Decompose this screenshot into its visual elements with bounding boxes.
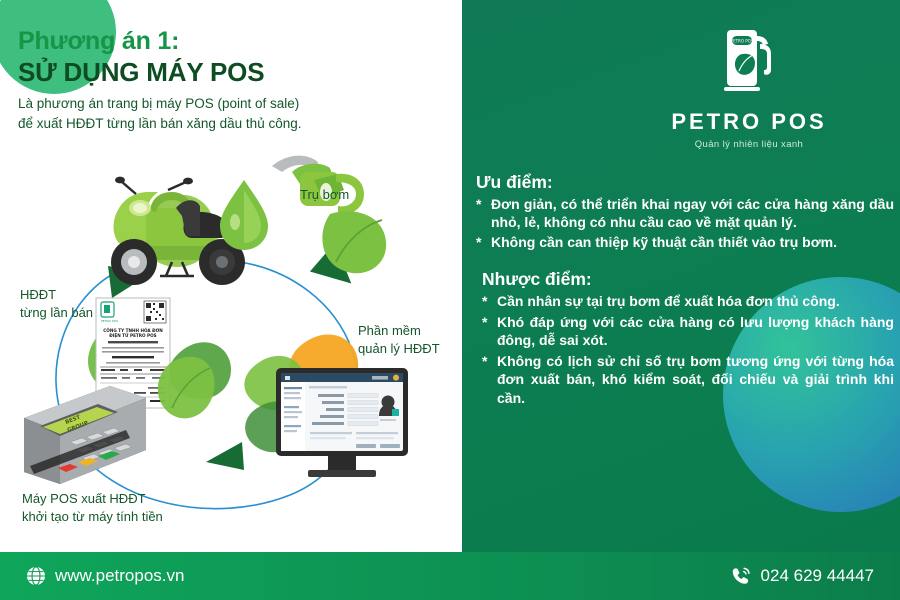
page-title-primary: Phương án 1: <box>18 28 448 56</box>
label-einvoice-per-sale: HĐĐT từng lần bán <box>20 286 93 321</box>
globe-icon <box>26 566 46 586</box>
fuel-nozzle-illustration <box>272 156 386 274</box>
svg-text:PETRO POS: PETRO POS <box>101 319 118 323</box>
advantages-heading: Ưu điểm: <box>476 172 894 193</box>
svg-text:ĐIỆN TỬ PETRO POS: ĐIỆN TỬ PETRO POS <box>109 333 156 338</box>
footer-bar: www.petropos.vn 024 629 44447 <box>0 552 900 600</box>
process-flow-diagram: PETRO POS CÔNG TY TNHH HÓA ĐƠN ĐIỆN <box>0 150 462 550</box>
pros-cons-content: Ưu điểm: * Đơn giản, có thể triển khai n… <box>476 172 894 409</box>
phone-icon <box>730 565 752 587</box>
logo-brand-name: PETRO POS <box>634 109 864 135</box>
label-invoice-software: Phần mềm quản lý HĐĐT <box>358 322 440 357</box>
footer-phone-text: 024 629 44447 <box>761 566 874 586</box>
logo-tagline: Quản lý nhiên liệu xanh <box>634 139 864 150</box>
left-content-pane: Phương án 1: SỬ DỤNG MÁY POS Là phương á… <box>0 0 462 552</box>
flow-arrow-bottom <box>206 442 244 470</box>
pos-terminal-illustration: PETRO POS CÔNG TY TNHH HÓA ĐƠN ĐIỆN <box>24 298 215 484</box>
disadvantage-text: Cần nhân sự tại trụ bơm để xuất hóa đơn … <box>497 292 894 310</box>
disadvantages-heading: Nhược điểm: <box>482 269 894 290</box>
list-item: * Cần nhân sự tại trụ bơm để xuất hóa đơ… <box>476 292 894 310</box>
disadvantage-text: Không có lịch sử chỉ số trụ bơm tương ứn… <box>497 352 894 407</box>
subtitle-line-1: Là phương án trang bị máy POS (point of … <box>18 94 448 113</box>
label-pos-terminal: Máy POS xuất HĐĐT khởi tạo từ máy tính t… <box>22 490 163 525</box>
label-pos-line-1: Máy POS xuất HĐĐT <box>22 490 163 508</box>
label-software-line-2: quản lý HĐĐT <box>358 340 440 358</box>
bullet-marker-icon: * <box>476 233 491 251</box>
monitor-illustration <box>276 368 408 477</box>
footer-website[interactable]: www.petropos.vn <box>26 566 184 586</box>
fuel-drop-icon <box>220 180 268 250</box>
title-block: Phương án 1: SỬ DỤNG MÁY POS Là phương á… <box>18 28 448 133</box>
infographic-poster: Phương án 1: SỬ DỤNG MÁY POS Là phương á… <box>0 0 900 600</box>
list-item: * Không cần can thiệp kỹ thuật cần thiết… <box>476 233 894 251</box>
list-item: * Khó đáp ứng với các cửa hàng có lưu lư… <box>476 313 894 350</box>
footer-phone[interactable]: 024 629 44447 <box>730 565 874 587</box>
label-einvoice-line-1: HĐĐT <box>20 286 93 304</box>
advantages-list: * Đơn giản, có thể triển khai ngay với c… <box>476 195 894 251</box>
disadvantage-text: Khó đáp ứng với các cửa hàng có lưu lượn… <box>497 313 894 350</box>
disadvantages-list: * Cần nhân sự tại trụ bơm để xuất hóa đơ… <box>476 292 894 407</box>
brand-logo: PETRO POS PETRO POS Quản lý nhiên liệu x… <box>634 24 864 150</box>
bullet-marker-icon: * <box>476 195 491 213</box>
list-item: * Không có lịch sử chỉ số trụ bơm tương … <box>476 352 894 407</box>
label-pos-line-2: khởi tạo từ máy tính tiền <box>22 508 163 526</box>
logo-pump-text: PETRO POS <box>731 39 754 44</box>
right-info-panel: PETRO POS PETRO POS Quản lý nhiên liệu x… <box>462 0 900 552</box>
fuel-pump-logo-icon: PETRO POS <box>713 24 785 102</box>
bullet-marker-icon: * <box>482 313 497 331</box>
advantage-text: Không cần can thiệp kỹ thuật cần thiết v… <box>491 233 894 251</box>
subtitle-line-2: để xuất HĐĐT từng lần bán xăng dầu thủ c… <box>18 114 448 133</box>
page-subtitle: Là phương án trang bị máy POS (point of … <box>18 94 448 132</box>
label-einvoice-line-2: từng lần bán <box>20 304 93 322</box>
advantage-text: Đơn giản, có thể triển khai ngay với các… <box>491 195 894 232</box>
page-title-secondary: SỬ DỤNG MÁY POS <box>18 58 448 88</box>
label-fuel-pump: Trụ bơm <box>300 186 349 204</box>
list-item: * Đơn giản, có thể triển khai ngay với c… <box>476 195 894 232</box>
bullet-marker-icon: * <box>482 292 497 310</box>
label-software-line-1: Phần mềm <box>358 322 440 340</box>
footer-website-text: www.petropos.vn <box>55 566 184 586</box>
bullet-marker-icon: * <box>482 352 497 370</box>
